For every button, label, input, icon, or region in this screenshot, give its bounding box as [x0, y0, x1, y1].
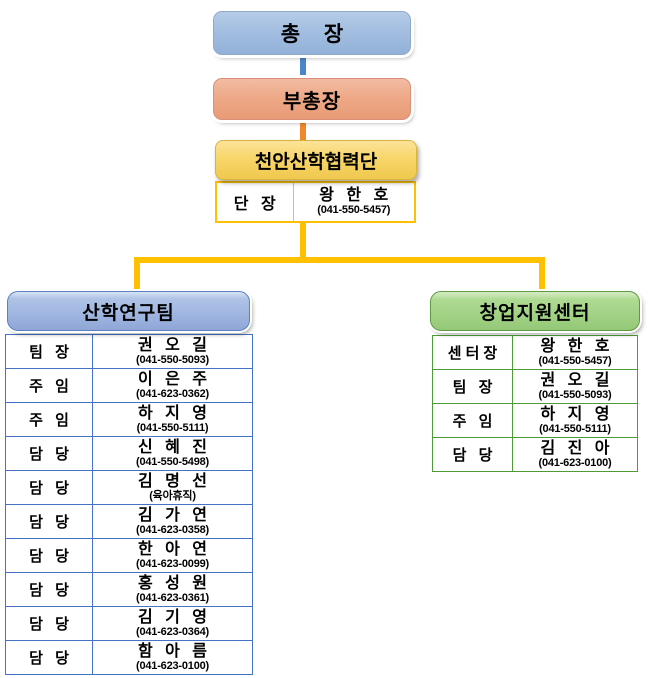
row-role: 주 임 — [6, 403, 93, 437]
row-role: 담 당 — [433, 438, 513, 472]
row-role: 주 임 — [433, 404, 513, 438]
row-person: 하 지 영 (041-550-5111) — [93, 403, 253, 437]
row-person: 신 혜 진 (041-550-5498) — [93, 437, 253, 471]
person-phone: (041-623-0362) — [93, 388, 252, 400]
row-role: 담 당 — [6, 505, 93, 539]
row-role: 담 당 — [6, 539, 93, 573]
person-name: 하 지 영 — [93, 405, 252, 422]
person-phone: (041-623-0361) — [93, 592, 252, 604]
person-phone: (041-550-5111) — [93, 422, 252, 434]
row-person: 홍 성 원 (041-623-0361) — [93, 573, 253, 607]
person-name: 김 진 아 — [513, 440, 637, 457]
row-person: 권 오 길 (041-550-5093) — [513, 370, 638, 404]
row-role: 담 당 — [6, 573, 93, 607]
row-role: 주 임 — [6, 369, 93, 403]
node-startup-center[interactable]: 창업지원센터 — [430, 291, 640, 331]
person-name: 하 지 영 — [513, 406, 637, 423]
row-role: 센터장 — [433, 336, 513, 370]
row-role: 담 당 — [6, 641, 93, 675]
table-row[interactable]: 센터장 왕 한 호 (041-550-5457) — [433, 336, 638, 370]
table-row[interactable]: 팀 장 권 오 길 (041-550-5093) — [433, 370, 638, 404]
person-phone: (041-623-0358) — [93, 524, 252, 536]
foundation-director-table: 단 장 왕 한 호 (041-550-5457) — [215, 181, 416, 223]
connector-vice-to-foundation — [300, 119, 306, 141]
connector-horizontal-bus — [134, 257, 545, 263]
research-team-table: 팀 장 권 오 길 (041-550-5093) 주 임 이 은 주 (041-… — [5, 334, 253, 675]
connector-bus-to-startup-center — [539, 257, 545, 292]
org-chart: 총 장 부총장 천안산학협력단 단 장 왕 한 호 (041-550-5457)… — [0, 0, 652, 678]
person-phone: (041-550-5498) — [93, 456, 252, 468]
person-phone: (041-550-5093) — [513, 389, 637, 401]
row-role: 팀 장 — [6, 335, 93, 369]
row-person: 왕 한 호 (041-550-5457) — [293, 182, 415, 222]
node-research-team[interactable]: 산학연구팀 — [7, 291, 250, 331]
person-phone: (041-623-0100) — [513, 457, 637, 469]
table-row[interactable]: 담 당 신 혜 진 (041-550-5498) — [6, 437, 253, 471]
table-row[interactable]: 주 임 이 은 주 (041-623-0362) — [6, 369, 253, 403]
person-phone: (041-623-0100) — [93, 660, 252, 672]
row-person: 이 은 주 (041-623-0362) — [93, 369, 253, 403]
row-person: 한 아 연 (041-623-0099) — [93, 539, 253, 573]
person-phone: (육아휴직) — [93, 490, 252, 502]
person-name: 권 오 길 — [513, 372, 637, 389]
table-row[interactable]: 주 임 하 지 영 (041-550-5111) — [433, 404, 638, 438]
person-name: 김 명 선 — [93, 473, 252, 490]
table-row[interactable]: 팀 장 권 오 길 (041-550-5093) — [6, 335, 253, 369]
person-phone: (041-550-5457) — [294, 204, 415, 216]
row-person: 왕 한 호 (041-550-5457) — [513, 336, 638, 370]
connector-chancellor-to-vice — [300, 54, 306, 76]
person-phone: (041-623-0364) — [93, 626, 252, 638]
person-phone: (041-623-0099) — [93, 558, 252, 570]
table-row[interactable]: 담 당 한 아 연 (041-623-0099) — [6, 539, 253, 573]
row-person: 김 가 연 (041-623-0358) — [93, 505, 253, 539]
person-name: 홍 성 원 — [93, 575, 252, 592]
row-person: 김 기 영 (041-623-0364) — [93, 607, 253, 641]
table-row[interactable]: 단 장 왕 한 호 (041-550-5457) — [216, 182, 415, 222]
row-person: 김 명 선 (육아휴직) — [93, 471, 253, 505]
node-chancellor[interactable]: 총 장 — [213, 11, 411, 55]
row-role: 담 당 — [6, 437, 93, 471]
row-role: 담 당 — [6, 471, 93, 505]
table-row[interactable]: 담 당 김 진 아 (041-623-0100) — [433, 438, 638, 472]
connector-bus-to-research-team — [134, 257, 140, 292]
person-phone: (041-550-5111) — [513, 423, 637, 435]
startup-center-table: 센터장 왕 한 호 (041-550-5457) 팀 장 권 오 길 (041-… — [432, 335, 638, 472]
table-row[interactable]: 담 당 김 기 영 (041-623-0364) — [6, 607, 253, 641]
table-row[interactable]: 담 당 김 명 선 (육아휴직) — [6, 471, 253, 505]
person-name: 김 가 연 — [93, 507, 252, 524]
person-phone: (041-550-5093) — [93, 354, 252, 366]
table-row[interactable]: 담 당 홍 성 원 (041-623-0361) — [6, 573, 253, 607]
person-name: 한 아 연 — [93, 541, 252, 558]
person-name: 왕 한 호 — [513, 338, 637, 355]
row-person: 권 오 길 (041-550-5093) — [93, 335, 253, 369]
person-name: 함 아 름 — [93, 643, 252, 660]
person-name: 신 혜 진 — [93, 439, 252, 456]
row-role: 담 당 — [6, 607, 93, 641]
person-name: 이 은 주 — [93, 371, 252, 388]
person-name: 왕 한 호 — [294, 187, 415, 204]
node-vice-chancellor[interactable]: 부총장 — [213, 78, 411, 120]
table-row[interactable]: 주 임 하 지 영 (041-550-5111) — [6, 403, 253, 437]
row-person: 김 진 아 (041-623-0100) — [513, 438, 638, 472]
table-row[interactable]: 담 당 김 가 연 (041-623-0358) — [6, 505, 253, 539]
person-phone: (041-550-5457) — [513, 355, 637, 367]
row-role: 팀 장 — [433, 370, 513, 404]
row-person: 하 지 영 (041-550-5111) — [513, 404, 638, 438]
person-name: 권 오 길 — [93, 337, 252, 354]
row-role: 단 장 — [216, 182, 293, 222]
node-foundation[interactable]: 천안산학협력단 — [215, 140, 417, 180]
row-person: 함 아 름 (041-623-0100) — [93, 641, 253, 675]
table-row[interactable]: 담 당 함 아 름 (041-623-0100) — [6, 641, 253, 675]
person-name: 김 기 영 — [93, 609, 252, 626]
